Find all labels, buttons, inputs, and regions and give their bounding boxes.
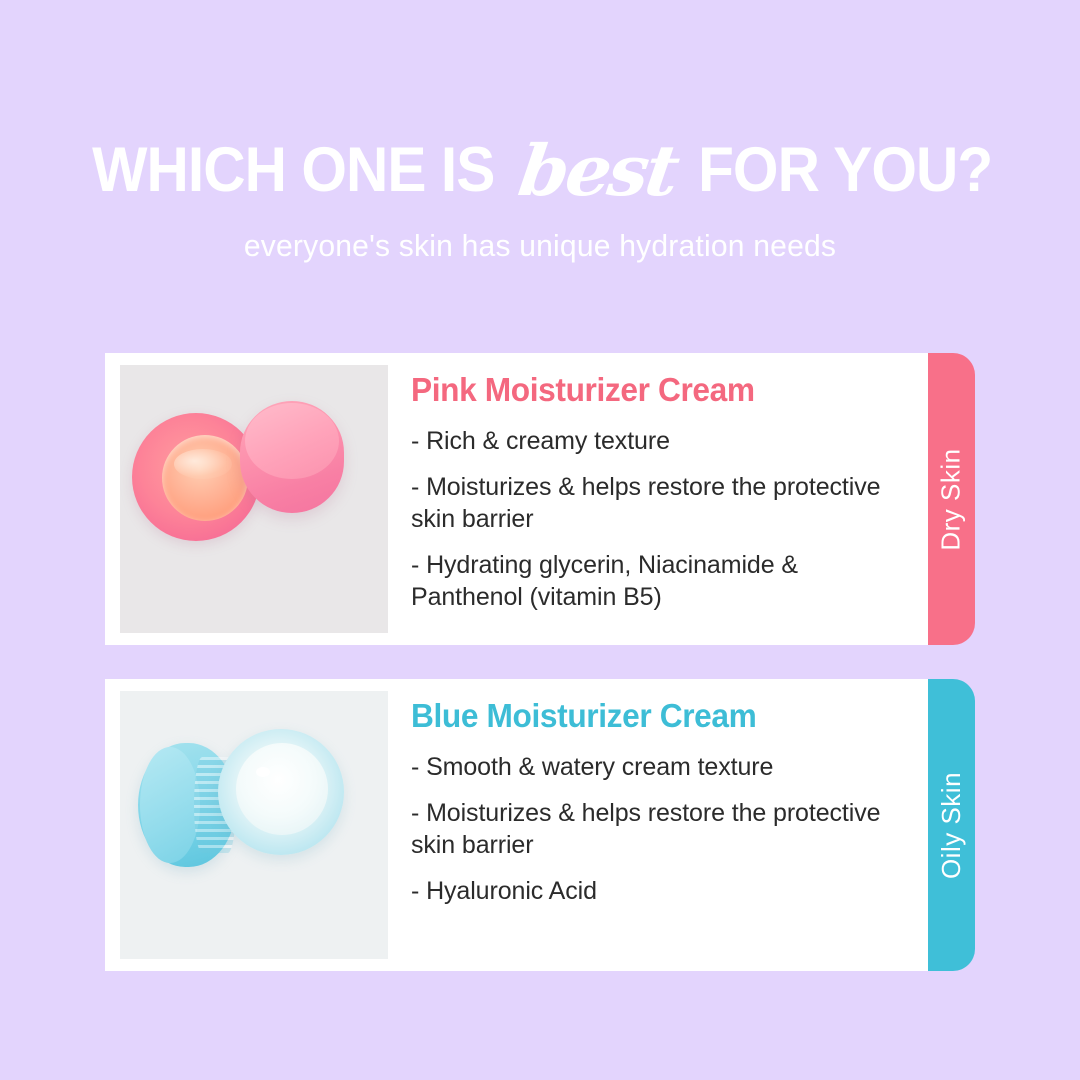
pink-jar-base-icon <box>132 413 260 541</box>
product-card-pink[interactable]: Pink Moisturizer Cream - Rich & creamy t… <box>105 353 928 645</box>
pink-card-title: Pink Moisturizer Cream <box>411 371 890 409</box>
pink-card-content: Pink Moisturizer Cream - Rich & creamy t… <box>388 353 928 627</box>
blue-moisturizer-jar-photo <box>120 691 388 959</box>
pink-cream-highlight-icon <box>174 449 232 479</box>
pink-jar-lid-top-icon <box>245 403 339 479</box>
blue-jar-base-icon <box>218 729 344 855</box>
skin-type-tab-oily-label: Oily Skin <box>936 771 967 878</box>
blue-card-content: Blue Moisturizer Cream - Smooth & watery… <box>388 679 928 920</box>
list-item: - Hydrating glycerin, Niacinamide & Pant… <box>411 549 910 614</box>
blue-cream-surface-icon <box>236 743 328 835</box>
skin-type-tab-oily[interactable]: Oily Skin <box>928 679 975 971</box>
product-card-blue[interactable]: Blue Moisturizer Cream - Smooth & watery… <box>105 679 928 971</box>
blue-jar-lid-face-icon <box>140 747 200 863</box>
page-subtitle: everyone's skin has unique hydration nee… <box>16 228 1064 264</box>
list-item: - Smooth & watery cream texture <box>411 751 910 784</box>
list-item: - Hyaluronic Acid <box>411 875 910 908</box>
blue-card-title: Blue Moisturizer Cream <box>411 697 890 735</box>
pink-moisturizer-jar-photo <box>120 365 388 633</box>
headline-text-second: FOR YOU? <box>698 139 992 202</box>
page-title: WHICH ONE IS best FOR YOU? <box>0 132 1080 202</box>
list-item: - Rich & creamy texture <box>411 425 910 458</box>
headline-script-word: best <box>503 136 694 206</box>
skin-type-tab-dry[interactable]: Dry Skin <box>928 353 975 645</box>
list-item: - Moisturizes & helps restore the protec… <box>411 471 910 536</box>
list-item: - Moisturizes & helps restore the protec… <box>411 797 910 862</box>
headline-text-first: WHICH ONE IS <box>92 139 494 202</box>
skin-type-tab-dry-label: Dry Skin <box>936 448 967 550</box>
page-header: WHICH ONE IS best FOR YOU? everyone's sk… <box>0 0 1080 264</box>
pink-jar-lid-icon <box>240 401 344 513</box>
blue-cream-highlight-icon <box>256 767 270 777</box>
